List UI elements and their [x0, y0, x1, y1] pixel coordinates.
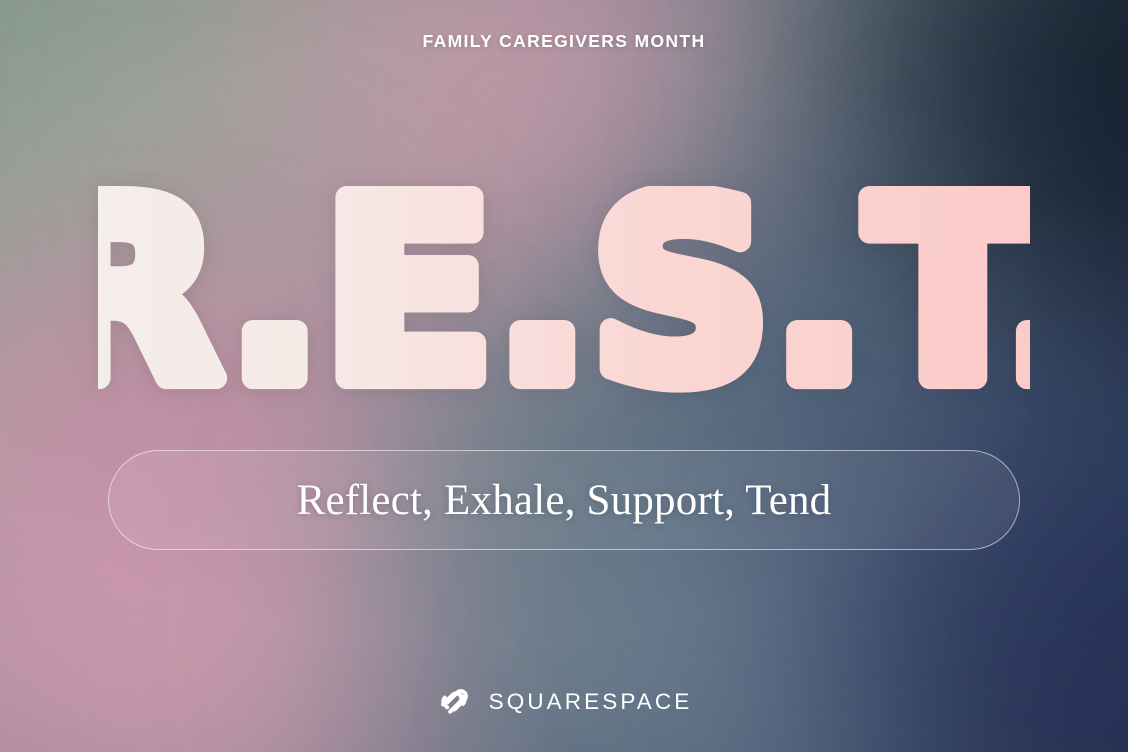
- squarespace-loops-icon: [436, 683, 474, 721]
- headline-container: R.E.S.T.: [0, 186, 1128, 398]
- subtitle-text: Reflect, Exhale, Support, Tend: [297, 479, 832, 522]
- squarespace-logo: SQUARESPACE: [0, 683, 1128, 721]
- subtitle-pill: Reflect, Exhale, Support, Tend: [108, 450, 1020, 550]
- eyebrow-label: FAMILY CAREGIVERS MONTH: [423, 33, 706, 51]
- poster-content: FAMILY CAREGIVERS MONTH R.E.S.T. Reflect…: [0, 0, 1128, 752]
- headline-graphic: R.E.S.T.: [98, 186, 1030, 398]
- headline-text: R.E.S.T.: [98, 186, 1030, 398]
- poster-canvas: FAMILY CAREGIVERS MONTH R.E.S.T. Reflect…: [0, 0, 1128, 752]
- squarespace-wordmark: SQUARESPACE: [489, 691, 693, 714]
